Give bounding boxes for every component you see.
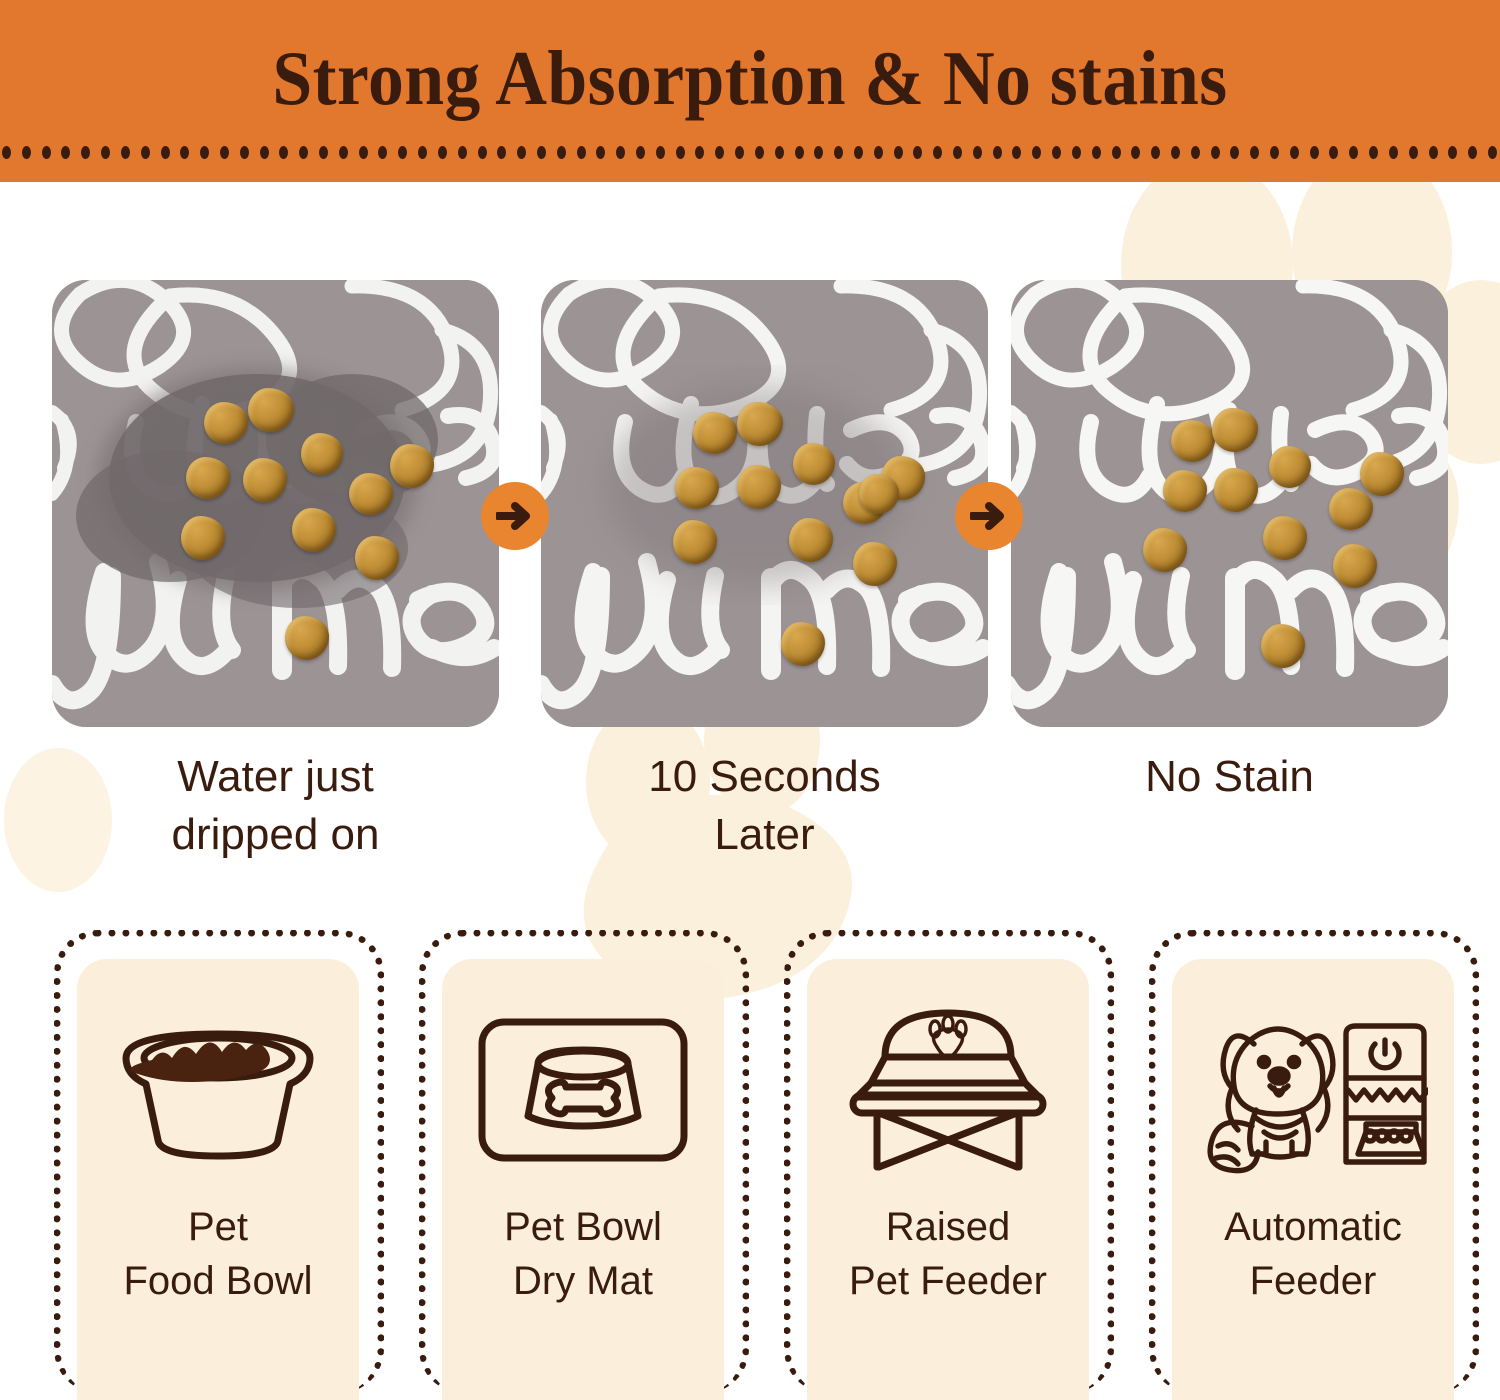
usecase-card-pet-food-bowl[interactable]: Pet Food Bowl: [54, 930, 384, 1393]
card-inner: Pet Bowl Dry Mat: [442, 959, 724, 1400]
header-banner: Strong Absorption & No stains: [0, 0, 1500, 182]
absorption-comparison-section: Water just dripped on 10 Seconds Later N…: [0, 182, 1500, 882]
comparison-photo-1: [52, 280, 499, 727]
comparison-photo-2: [541, 280, 988, 727]
card-inner: Pet Food Bowl: [77, 959, 359, 1400]
comparison-caption-3: No Stain: [1011, 748, 1448, 806]
pet-bowl-dry-mat-icon: [476, 985, 690, 1195]
usecase-card-label: Raised Pet Feeder: [849, 1201, 1047, 1308]
raised-pet-feeder-icon: [837, 985, 1059, 1195]
dotted-divider-icon: [0, 146, 1500, 160]
mat-photo-wet: [52, 280, 499, 727]
card-inner: Automatic Feeder: [1172, 959, 1454, 1400]
arrow-right-icon: [955, 482, 1023, 550]
arrow-right-icon: [481, 482, 549, 550]
usecase-cards-section: Pet Food Bowl Pet Bowl Dry Mat: [0, 930, 1500, 1393]
usecase-card-label: Automatic Feeder: [1224, 1201, 1402, 1308]
comparison-caption-2: 10 Seconds Later: [541, 748, 988, 864]
usecase-card-raised-pet-feeder[interactable]: Raised Pet Feeder: [784, 930, 1114, 1393]
pet-food-bowl-icon: [112, 985, 324, 1195]
automatic-feeder-icon: [1198, 985, 1428, 1195]
comparison-photo-3: [1011, 280, 1448, 727]
comparison-caption-1: Water just dripped on: [52, 748, 499, 864]
usecase-card-pet-bowl-dry-mat[interactable]: Pet Bowl Dry Mat: [419, 930, 749, 1393]
usecase-card-label: Pet Food Bowl: [124, 1201, 313, 1308]
page-title: Strong Absorption & No stains: [53, 34, 1448, 123]
card-inner: Raised Pet Feeder: [807, 959, 1089, 1400]
usecase-card-label: Pet Bowl Dry Mat: [504, 1201, 662, 1308]
usecase-card-automatic-feeder[interactable]: Automatic Feeder: [1149, 930, 1479, 1393]
